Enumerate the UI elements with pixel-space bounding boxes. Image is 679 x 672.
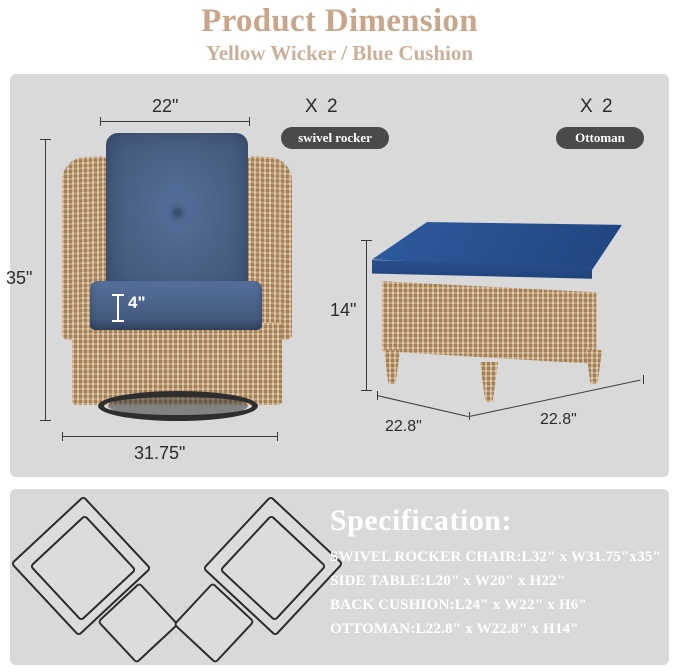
ottoman-width-right-cap [643,375,644,384]
ottoman-badge: Ottoman [556,127,644,149]
cushion-tuft-button [173,208,182,217]
page-header: Product Dimension Yellow Wicker / Blue C… [0,0,679,66]
ottoman-height-cap-top [361,240,372,241]
page-subtitle: Yellow Wicker / Blue Cushion [0,40,679,66]
chair-width-top-line [100,121,250,122]
chair-seat-cushion [90,281,262,330]
chair-seat-thickness-line [117,294,119,321]
chair-width-base-cap-right [277,432,278,441]
ottoman-leg-middle [480,362,498,402]
ottoman-width-right-label: 22.8" [540,411,577,429]
chair-swivel-base [98,391,258,421]
ottoman-leg-left [384,350,400,384]
chair-seat-thickness-cap-top [112,294,124,296]
ottoman-depth-left-cap [377,391,378,400]
chair-width-base-cap-left [62,432,63,441]
page-title: Product Dimension [0,0,679,40]
chair-width-base-line [62,436,278,437]
chair-height-cap-bottom [40,420,51,421]
chair-width-top-cap-left [100,117,101,126]
specification-line-back-cushion: BACK CUSHION:L24" x W22" x H6" [330,593,665,617]
swivel-rocker-badge: swivel rocker [281,127,389,149]
ottoman-depth-left-label: 22.8" [385,418,422,436]
chair-width-top-label: 22" [152,96,178,117]
specification-line-chair: SWIVEL ROCKER CHAIR:L32" x W31.75"x35" [330,545,665,569]
swivel-rocker-count: X 2 [305,96,340,118]
specification-title: Specification: [330,503,665,539]
swivel-rocker-illustration [62,133,292,426]
ottoman-count: X 2 [580,96,615,118]
ottoman-height-line [366,240,367,390]
topview-layout-diagram [25,498,325,663]
chair-seat-thickness-label: 4" [128,293,146,313]
chair-width-base-label: 31.75" [134,443,185,464]
ottoman-cushion [372,222,622,288]
specification-line-ottoman: OTTOMAN:L22.8" x W22.8" x H14" [330,617,665,641]
specification-line-side-table: SIDE TABLE:L20" x W20" x H22" [330,569,665,593]
ottoman-illustration [372,222,622,402]
ottoman-leg-right [586,350,602,384]
specification-block: Specification: SWIVEL ROCKER CHAIR:L32" … [330,503,665,641]
ottoman-height-label: 14" [330,300,356,321]
chair-back-cushion [106,133,248,293]
chair-height-line [45,139,46,420]
chair-height-label: 35" [6,268,32,289]
chair-seat-thickness-cap-bottom [112,320,124,322]
ottoman-height-cap-bottom [361,390,372,391]
ottoman-base-center-cap [469,412,470,420]
chair-height-cap-top [40,139,51,140]
chair-width-top-cap-right [249,117,250,126]
